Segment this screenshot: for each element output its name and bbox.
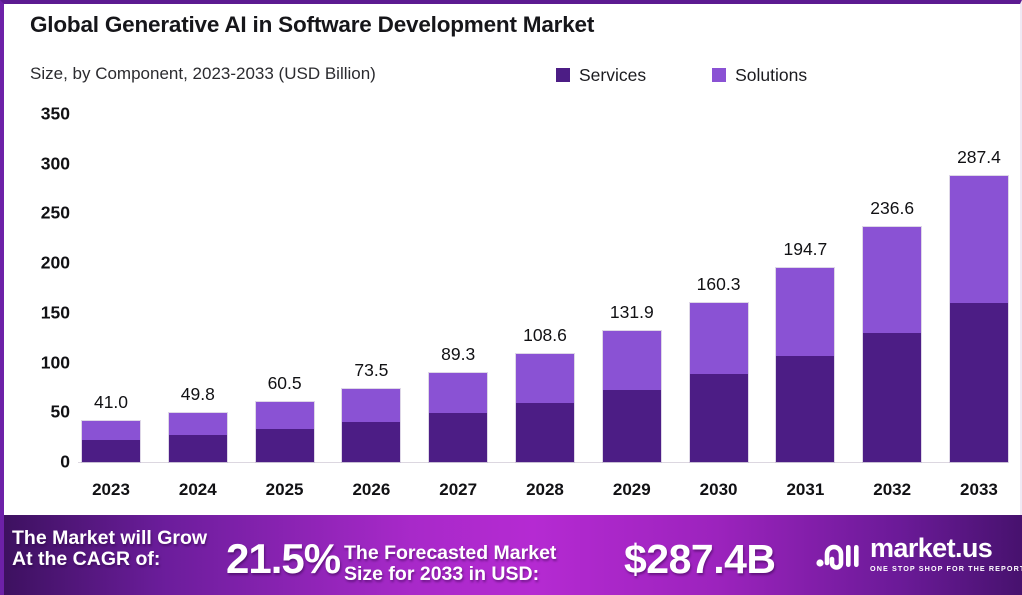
bar-segment-solutions[interactable] (82, 421, 140, 440)
bar-segment-services[interactable] (256, 429, 314, 462)
bar-stack[interactable] (256, 402, 314, 462)
market-us-logo-icon (816, 537, 862, 571)
legend-label: Solutions (735, 65, 807, 86)
x-axis-tick: 2028 (516, 480, 574, 500)
y-axis-tick: 50 (51, 402, 70, 423)
bar-total-label: 73.5 (354, 360, 388, 381)
bar-total-label: 49.8 (181, 384, 215, 405)
x-axis-tick: 2031 (776, 480, 834, 500)
y-axis-tick: 100 (41, 352, 70, 373)
bar-total-label: 108.6 (523, 325, 567, 346)
bar-segment-services[interactable] (169, 435, 227, 462)
cagr-label-line2: At the CAGR of: (12, 549, 207, 570)
logo-name: market.us (870, 535, 1022, 562)
bar-stack[interactable] (776, 268, 834, 462)
forecast-label-line1: The Forecasted Market (344, 543, 556, 564)
bar-group[interactable]: 49.8 (169, 96, 227, 462)
bar-segment-solutions[interactable] (950, 176, 1008, 303)
bar-group[interactable]: 73.5 (342, 96, 400, 462)
legend-swatch-services (556, 68, 570, 82)
bar-segment-solutions[interactable] (429, 373, 487, 413)
bar-stack[interactable] (516, 354, 574, 462)
x-axis-tick: 2024 (169, 480, 227, 500)
bar-stack[interactable] (342, 389, 400, 462)
x-axis-tick: 2032 (863, 480, 921, 500)
cagr-label-line1: The Market will Grow (12, 528, 207, 549)
x-axis-tick: 2030 (690, 480, 748, 500)
bar-stack[interactable] (863, 227, 921, 462)
bar-segment-services[interactable] (690, 374, 748, 462)
bar-segment-services[interactable] (82, 440, 140, 462)
y-axis: 050100150200250300350 (4, 96, 78, 515)
bar-segment-solutions[interactable] (776, 268, 834, 355)
y-axis-tick: 250 (41, 203, 70, 224)
y-axis-tick: 350 (41, 104, 70, 125)
market-us-logo[interactable]: market.us ONE STOP SHOP FOR THE REPORTS (816, 531, 1008, 577)
cagr-value: 21.5% (226, 536, 340, 581)
y-axis-tick: 300 (41, 153, 70, 174)
bar-stack[interactable] (169, 413, 227, 463)
bar-total-label: 41.0 (94, 392, 128, 413)
chart-infographic: Global Generative AI in Software Develop… (0, 0, 1022, 595)
bar-stack[interactable] (429, 373, 487, 462)
forecast-label-line2: Size for 2033 in USD: (344, 564, 556, 585)
bar-series-container: 41.049.860.573.589.3108.6131.9160.3194.7… (82, 96, 1008, 462)
x-axis-tick: 2026 (342, 480, 400, 500)
bar-group[interactable]: 194.7 (776, 96, 834, 462)
legend-item-solutions[interactable]: Solutions (712, 65, 807, 86)
bar-group[interactable]: 108.6 (516, 96, 574, 462)
bar-segment-services[interactable] (776, 356, 834, 462)
logo-wordmark: market.us ONE STOP SHOP FOR THE REPORTS (870, 535, 1022, 572)
chart-subtitle: Size, by Component, 2023-2033 (USD Billi… (30, 64, 376, 84)
bar-segment-solutions[interactable] (516, 354, 574, 403)
bar-group[interactable]: 287.4 (950, 96, 1008, 462)
bar-segment-services[interactable] (950, 303, 1008, 462)
bar-group[interactable]: 131.9 (603, 96, 661, 462)
forecast-label: The Forecasted Market Size for 2033 in U… (344, 543, 556, 585)
bar-group[interactable]: 160.3 (690, 96, 748, 462)
x-axis-tick: 2029 (603, 480, 661, 500)
bar-stack[interactable] (82, 421, 140, 462)
bar-total-label: 160.3 (697, 274, 741, 295)
x-axis-tick: 2033 (950, 480, 1008, 500)
y-axis-tick: 200 (41, 253, 70, 274)
plot-area: 050100150200250300350 41.049.860.573.589… (4, 96, 1022, 515)
bar-stack[interactable] (950, 176, 1008, 462)
forecast-value: $287.4B (624, 537, 776, 581)
x-axis-tick: 2027 (429, 480, 487, 500)
bar-segment-solutions[interactable] (863, 227, 921, 333)
chart-header: Global Generative AI in Software Develop… (4, 4, 1022, 96)
cagr-label: The Market will Grow At the CAGR of: (12, 528, 207, 570)
bar-total-label: 131.9 (610, 302, 654, 323)
legend-item-services[interactable]: Services (556, 65, 646, 86)
page-title: Global Generative AI in Software Develop… (30, 12, 594, 38)
bar-stack[interactable] (603, 331, 661, 462)
bar-segment-services[interactable] (863, 333, 921, 462)
bar-segment-services[interactable] (429, 413, 487, 462)
bar-total-label: 194.7 (783, 239, 827, 260)
bar-segment-services[interactable] (516, 403, 574, 462)
chart-legend: ServicesSolutions (556, 63, 807, 87)
bar-segment-solutions[interactable] (342, 389, 400, 422)
bar-stack[interactable] (690, 303, 748, 462)
bar-segment-solutions[interactable] (603, 331, 661, 390)
bar-group[interactable]: 236.6 (863, 96, 921, 462)
bar-total-label: 236.6 (870, 198, 914, 219)
bar-segment-services[interactable] (342, 422, 400, 462)
bar-group[interactable]: 89.3 (429, 96, 487, 462)
y-axis-tick: 150 (41, 302, 70, 323)
bar-segment-solutions[interactable] (256, 402, 314, 429)
bar-group[interactable]: 41.0 (82, 96, 140, 462)
bar-segment-services[interactable] (603, 390, 661, 462)
legend-label: Services (579, 65, 646, 86)
bar-total-label: 89.3 (441, 344, 475, 365)
y-axis-tick: 0 (60, 452, 70, 473)
x-axis-baseline (78, 462, 1008, 463)
logo-tagline: ONE STOP SHOP FOR THE REPORTS (870, 565, 1022, 572)
x-axis: 2023202420252026202720282029203020312032… (82, 470, 1008, 510)
x-axis-tick: 2025 (256, 480, 314, 500)
bar-segment-solutions[interactable] (690, 303, 748, 375)
x-axis-tick: 2023 (82, 480, 140, 500)
bar-group[interactable]: 60.5 (256, 96, 314, 462)
bar-total-label: 60.5 (268, 373, 302, 394)
bar-segment-solutions[interactable] (169, 413, 227, 436)
bar-total-label: 287.4 (957, 147, 1001, 168)
legend-swatch-solutions (712, 68, 726, 82)
